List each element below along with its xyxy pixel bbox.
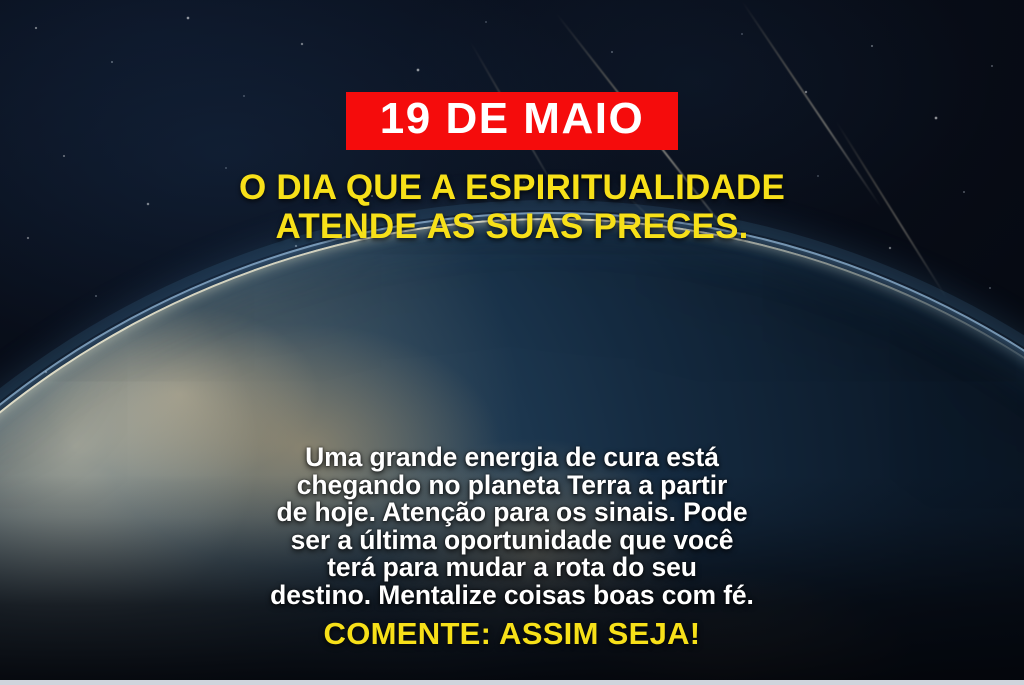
date-banner: 19 DE MAIO	[346, 92, 678, 150]
headline: O DIA QUE A ESPIRITUALIDADE ATENDE AS SU…	[239, 168, 785, 246]
headline-line-2: ATENDE AS SUAS PRECES.	[239, 207, 785, 246]
body-copy: Uma grande energia de cura está chegando…	[62, 444, 962, 609]
poster-content: 19 DE MAIO O DIA QUE A ESPIRITUALIDADE A…	[0, 0, 1024, 685]
social-media-poster: 19 DE MAIO O DIA QUE A ESPIRITUALIDADE A…	[0, 0, 1024, 685]
body-line-2: chegando no planeta Terra a partir	[62, 472, 962, 500]
date-banner-label: 19 DE MAIO	[380, 97, 644, 141]
body-line-3: de hoje. Atenção para os sinais. Pode	[62, 499, 962, 527]
call-to-action-label: COMENTE: ASSIM SEJA!	[324, 616, 701, 652]
body-line-5: terá para mudar a rota do seu	[62, 554, 962, 582]
body-line-6: destino. Mentalize coisas boas com fé.	[62, 582, 962, 610]
body-line-1: Uma grande energia de cura está	[62, 444, 962, 472]
bottom-border-strip	[0, 680, 1024, 685]
body-line-4: ser a última oportunidade que você	[62, 527, 962, 555]
headline-line-1: O DIA QUE A ESPIRITUALIDADE	[239, 168, 785, 207]
